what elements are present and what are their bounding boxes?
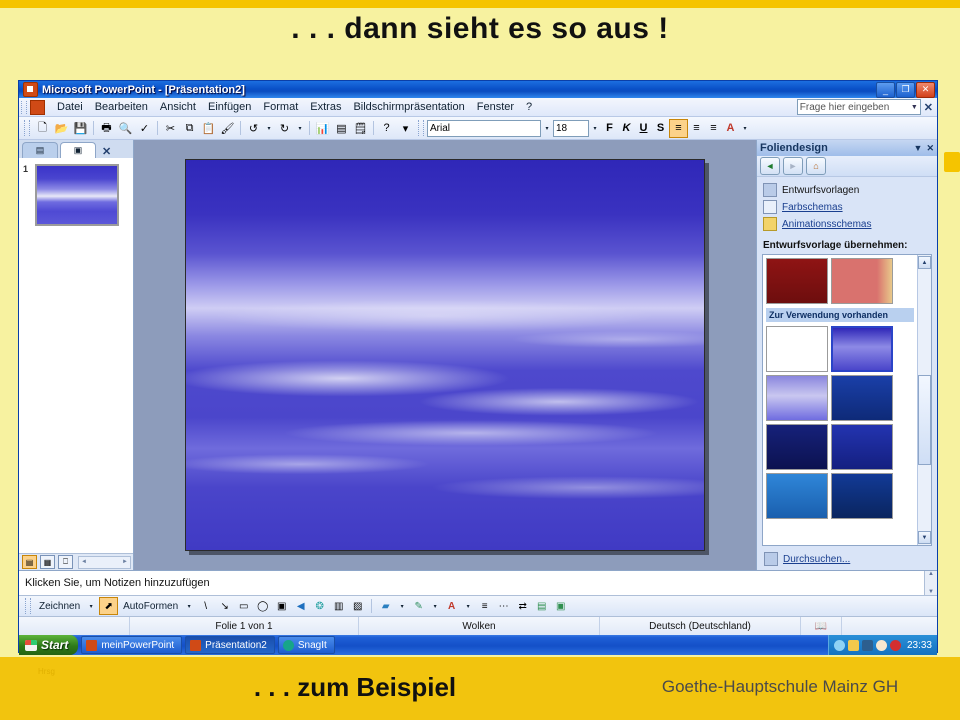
slide-thumbnail-1[interactable]	[35, 164, 119, 226]
scroll-down-icon[interactable]: ▼	[918, 531, 931, 544]
scrollbar-thumb[interactable]	[918, 375, 931, 465]
notes-placeholder: Klicken Sie, um Notizen hinzuzufügen	[19, 577, 924, 589]
spellcheck-icon[interactable]: ✓	[135, 119, 154, 137]
link-label: Animationsschemas	[782, 219, 871, 230]
font-name-dropdown-icon[interactable]: ▾	[541, 121, 553, 136]
slideshow-button[interactable]: ⎕	[58, 555, 73, 569]
menu-extras[interactable]: Extras	[304, 100, 347, 114]
back-button[interactable]: ◄	[760, 157, 780, 175]
chevron-down-icon[interactable]: ▼	[914, 143, 923, 153]
tray-network-icon[interactable]	[848, 640, 859, 651]
paste-icon[interactable]: 📋	[199, 119, 218, 137]
cut-icon[interactable]: ✂	[161, 119, 180, 137]
powerpoint-icon	[86, 640, 97, 651]
normal-view-button[interactable]: ▤	[22, 555, 37, 569]
drawing-toolbar: Zeichnen ▾ ⬈ AutoFormen ▾ \ ↘ ▭ ◯ ▣ ◀ ❂ …	[19, 595, 937, 616]
forward-button[interactable]: ►	[783, 157, 803, 175]
taskbar-item-label: meinPowerPoint	[101, 640, 174, 651]
autoformen-dropdown-icon[interactable]: ▾	[183, 599, 195, 614]
menu-datei[interactable]: Datei	[51, 100, 89, 114]
tray-volume-icon[interactable]	[834, 640, 845, 651]
undo-dropdown-icon[interactable]: ▾	[263, 121, 275, 136]
template-navy[interactable]	[766, 424, 828, 470]
toolbar-grip[interactable]	[24, 120, 30, 136]
document-icon	[30, 100, 45, 115]
color-schemes-icon	[763, 200, 777, 214]
status-spacer	[19, 617, 130, 635]
window-title-bar: Microsoft PowerPoint - [Präsentation2] _…	[19, 81, 937, 98]
rectangle-icon[interactable]: ▭	[235, 598, 252, 614]
toolbar-separator	[157, 121, 158, 135]
task-pane-subheading: Entwurfsvorlage übernehmen:	[757, 236, 937, 254]
template-gallery: Zur Verwendung vorhanden ▲ ▼	[762, 254, 932, 546]
outline-tab-strip: ▤ ▣ ✕	[19, 140, 133, 158]
tray-monitor-icon[interactable]	[862, 640, 873, 651]
menu-bar: Datei Bearbeiten Ansicht Einfügen Format…	[19, 98, 937, 117]
presentation-slide: . . . dann sieht es so aus ! Microsoft P…	[0, 0, 960, 720]
new-icon[interactable]: 🗋	[33, 119, 52, 137]
autoformen-menu[interactable]: AutoFormen	[120, 601, 181, 612]
taskbar-item-praesentation2[interactable]: Präsentation2	[185, 636, 275, 654]
taskbar-item-snagit[interactable]: SnagIt	[278, 636, 335, 654]
align-right-button[interactable]: ≡	[705, 120, 722, 137]
system-clock[interactable]: 23:33	[907, 640, 932, 651]
standard-toolbar: 🗋 📂 💾 🖶 🔍 ✓ ✂ ⧉ 📋 🖌 ↺ ▾ ↻ ▾ 📊 ▤ 🗒 ? ▾	[19, 117, 937, 140]
minimize-button[interactable]: _	[876, 82, 895, 98]
template-grid: Zur Verwendung vorhanden	[763, 255, 917, 545]
browse-icon	[764, 552, 778, 566]
task-pane-nav: ◄ ► ⌂	[757, 156, 937, 177]
task-pane-title: Foliendesign	[760, 142, 910, 154]
template-clouds[interactable]	[831, 326, 893, 372]
tab-folien[interactable]: ▣	[60, 142, 96, 158]
link-animationsschemas[interactable]: Animationsschemas	[763, 217, 931, 231]
slide-canvas-clouds[interactable]	[185, 159, 705, 551]
fill-color-dropdown-icon[interactable]: ▾	[396, 599, 408, 614]
close-button[interactable]: ✕	[916, 82, 935, 98]
start-button[interactable]: Start	[19, 635, 78, 655]
system-tray: 23:33	[828, 635, 937, 655]
align-left-button[interactable]: ≡	[669, 119, 688, 138]
start-label: Start	[41, 638, 68, 652]
help-icon[interactable]: ?	[377, 119, 396, 137]
scroll-right-icon[interactable]: ►	[120, 559, 130, 565]
undo-icon[interactable]: ↺	[244, 119, 263, 137]
template-section-band: Zur Verwendung vorhanden	[766, 308, 914, 322]
menu-bearbeiten[interactable]: Bearbeiten	[89, 100, 154, 114]
status-slide-info: Folie 1 von 1	[130, 617, 359, 635]
browse-label: Durchsuchen...	[783, 554, 850, 565]
menu-einfuegen[interactable]: Einfügen	[202, 100, 257, 114]
redo-icon[interactable]: ↻	[275, 119, 294, 137]
underline-button[interactable]: U	[635, 120, 652, 137]
font-color-button[interactable]: A	[722, 120, 739, 137]
ask-a-question-input[interactable]: Frage hier eingeben ▼	[797, 99, 921, 115]
formatting-toolbar-grip[interactable]	[418, 120, 424, 136]
template-deep-blue[interactable]	[831, 473, 893, 519]
windows-taskbar: Start meinPowerPoint Präsentation2 SnagI…	[19, 635, 937, 655]
notes-scrollbar[interactable]: ▲ ▼	[924, 571, 937, 595]
align-center-button[interactable]: ≡	[688, 120, 705, 137]
font-color-icon[interactable]: A	[443, 598, 460, 614]
slide-edit-area[interactable]	[134, 140, 756, 570]
task-pane-header: Foliendesign ▼ ✕	[757, 140, 937, 156]
print-preview-icon[interactable]: 🔍	[116, 119, 135, 137]
animation-schemes-icon	[763, 217, 777, 231]
slide-number: 1	[23, 164, 31, 547]
font-size-value: 18	[556, 123, 567, 134]
menu-ansicht[interactable]: Ansicht	[154, 100, 202, 114]
taskbar-item-meinpowerpoint[interactable]: meinPowerPoint	[81, 636, 182, 654]
toolbar-separator	[371, 599, 372, 613]
font-name-value: Arial	[430, 123, 450, 134]
status-empty	[842, 617, 937, 635]
status-bar: Folie 1 von 1 Wolken Deutsch (Deutschlan…	[19, 616, 937, 635]
status-language[interactable]: Deutsch (Deutschland)	[600, 617, 801, 635]
view-buttons-bar: ▤ ▦ ⎕ ◄ ►	[19, 553, 133, 570]
restore-button[interactable]: ❐	[896, 82, 915, 98]
menu-bildschirmpraesentation[interactable]: Bildschirmpräsentation	[347, 100, 470, 114]
slide-top-band	[0, 0, 960, 8]
powerpoint-window: Microsoft PowerPoint - [Präsentation2] _…	[18, 80, 938, 653]
scroll-down-icon[interactable]: ▼	[928, 589, 934, 595]
link-entwurfsvorlagen[interactable]: Entwurfsvorlagen	[763, 183, 931, 197]
slide-footline: . . . zum Beispiel	[120, 672, 590, 703]
toolbar-separator	[373, 121, 374, 135]
toolbar-separator	[309, 121, 310, 135]
taskbar-item-label: Präsentation2	[205, 640, 267, 651]
format-painter-icon[interactable]: 🖌	[218, 119, 237, 137]
print-icon[interactable]: 🖶	[97, 119, 116, 137]
snagit-icon	[283, 640, 294, 651]
arrow-icon[interactable]: ↘	[216, 598, 233, 614]
redo-dropdown-icon[interactable]: ▾	[294, 121, 306, 136]
font-size-dropdown-icon[interactable]: ▾	[589, 121, 601, 136]
line-style-icon[interactable]: ≡	[476, 598, 493, 614]
line-color-dropdown-icon[interactable]: ▾	[429, 599, 441, 614]
powerpoint-icon	[190, 640, 201, 651]
slide-design-icon[interactable]: 🗒	[351, 119, 370, 137]
clipart-icon[interactable]: ▥	[330, 598, 347, 614]
oval-icon[interactable]: ◯	[254, 598, 271, 614]
notes-pane[interactable]: Klicken Sie, um Notizen hinzuzufügen ▲ ▼	[19, 570, 937, 595]
link-farbschemas[interactable]: Farbschemas	[763, 200, 931, 214]
table-icon[interactable]: ▤	[332, 119, 351, 137]
link-label: Farbschemas	[782, 202, 843, 213]
template-scrollbar[interactable]: ▲ ▼	[917, 255, 931, 545]
scroll-up-icon[interactable]: ▲	[918, 256, 931, 269]
zeichnen-menu[interactable]: Zeichnen	[36, 601, 83, 612]
italic-button[interactable]: K	[618, 120, 635, 137]
ask-a-question-value: Frage hier eingeben	[800, 102, 890, 113]
tray-antivirus-icon[interactable]	[890, 640, 901, 651]
3d-style-icon[interactable]: ▣	[552, 598, 569, 614]
bold-button[interactable]: F	[601, 120, 618, 137]
line-icon[interactable]: \	[197, 598, 214, 614]
scroll-up-icon[interactable]: ▲	[928, 571, 934, 577]
template-dark-red[interactable]	[766, 258, 828, 304]
font-name-input[interactable]: Arial	[427, 120, 541, 137]
font-color-dropdown-icon[interactable]: ▾	[462, 599, 474, 614]
design-templates-icon	[763, 183, 777, 197]
template-blue-gradient[interactable]	[831, 375, 893, 421]
toolbar-separator	[93, 121, 94, 135]
close-icon[interactable]: ✕	[924, 101, 933, 114]
home-button[interactable]: ⌂	[806, 157, 826, 175]
copy-icon[interactable]: ⧉	[180, 119, 199, 137]
toolbar-options-icon[interactable]: ▾	[396, 119, 415, 137]
menu-format[interactable]: Format	[257, 100, 304, 114]
menu-hilfe[interactable]: ?	[520, 100, 538, 114]
link-label: Entwurfsvorlagen	[782, 185, 859, 196]
status-design-name: Wolken	[359, 617, 600, 635]
diagram-icon[interactable]: ❂	[311, 598, 328, 614]
template-white-plain[interactable]	[766, 326, 828, 372]
tab-gliederung[interactable]: ▤	[22, 142, 58, 158]
tray-pointer-icon[interactable]	[876, 640, 887, 651]
scroll-left-icon[interactable]: ◄	[79, 559, 89, 565]
slide-headline: . . . dann sieht es so aus !	[0, 12, 960, 46]
chart-icon[interactable]: 📊	[313, 119, 332, 137]
toolbar-separator	[240, 121, 241, 135]
task-pane-links: Entwurfsvorlagen Farbschemas Animationss…	[757, 177, 937, 236]
menu-fenster[interactable]: Fenster	[471, 100, 520, 114]
task-pane-foliendesign: Foliendesign ▼ ✕ ◄ ► ⌂ Entwurfsvorlagen	[756, 140, 937, 570]
slide-hrsg-note: Hrsg	[38, 667, 55, 676]
select-objects-icon[interactable]: ⬈	[99, 597, 118, 615]
template-rose[interactable]	[831, 258, 893, 304]
windows-flag-icon	[25, 640, 37, 651]
line-color-icon[interactable]: ✎	[410, 598, 427, 614]
slide-school-name: Goethe-Hauptschule Mainz GH	[620, 677, 940, 697]
font-color-dropdown-icon[interactable]: ▾	[739, 121, 751, 136]
spellcheck-status-icon[interactable]: 📖	[801, 617, 842, 635]
shadow-button[interactable]: S	[652, 120, 669, 137]
fill-color-icon[interactable]: ▰	[377, 598, 394, 614]
zeichnen-dropdown-icon[interactable]: ▾	[85, 599, 97, 614]
outline-pane: ▤ ▣ ✕ 1 ▤ ▦ ⎕ ◄ ►	[19, 140, 134, 570]
window-title: Microsoft PowerPoint - [Präsentation2]	[42, 84, 875, 96]
shadow-style-icon[interactable]: ▤	[533, 598, 550, 614]
slide-thumbnail-list: 1	[19, 158, 133, 553]
open-icon[interactable]: 📂	[52, 119, 71, 137]
template-light-clouds[interactable]	[766, 375, 828, 421]
dash-style-icon[interactable]: ⋯	[495, 598, 512, 614]
save-icon[interactable]: 💾	[71, 119, 90, 137]
template-cyan-blue[interactable]	[766, 473, 828, 519]
picture-icon[interactable]: ▨	[349, 598, 366, 614]
template-royal-blue[interactable]	[831, 424, 893, 470]
font-size-input[interactable]: 18	[553, 120, 589, 137]
close-icon[interactable]: ✕	[926, 143, 934, 154]
wordart-icon[interactable]: ◀	[292, 598, 309, 614]
close-icon[interactable]: ✕	[102, 145, 111, 158]
powerpoint-icon	[23, 82, 38, 97]
drawing-toolbar-grip[interactable]	[25, 598, 31, 614]
chevron-down-icon[interactable]: ▼	[911, 104, 918, 111]
menu-grip[interactable]	[21, 101, 27, 114]
horizontal-scrollbar[interactable]: ◄ ►	[78, 556, 131, 569]
browse-templates[interactable]: Durchsuchen...	[757, 548, 937, 570]
slide-right-marker	[944, 152, 960, 172]
arrow-style-icon[interactable]: ⇄	[514, 598, 531, 614]
text-box-icon[interactable]: ▣	[273, 598, 290, 614]
taskbar-item-label: SnagIt	[298, 640, 327, 651]
slide-sorter-button[interactable]: ▦	[40, 555, 55, 569]
